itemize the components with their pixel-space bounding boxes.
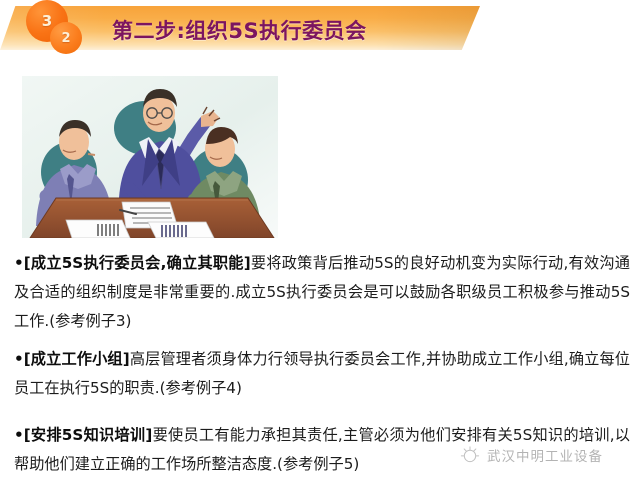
paragraph-3-lead: [安排5S知识培训] — [24, 426, 153, 444]
paragraph-1: •[成立5S执行委员会,确立其职能]要将政策背后推动5S的良好动机变为实际行动,… — [14, 249, 630, 336]
paragraph-3: •[安排5S知识培训]要使员工有能力承担其责任,主管必须为他们安排有关5S知识的… — [14, 421, 630, 479]
step-badge-3-label: 3 — [42, 12, 52, 30]
meeting-illustration-graphic — [22, 76, 278, 238]
slide-page: 第二步:组织5S执行委员会 3 2 — [0, 0, 640, 480]
step-badge-2: 2 — [50, 22, 82, 54]
bullet-icon-2: • — [14, 350, 24, 368]
bullet-icon-1: • — [14, 254, 24, 272]
page-title: 第二步:组织5S执行委员会 — [112, 15, 367, 45]
paragraph-2: •[成立工作小组]高层管理者须身体力行领导执行委员会工作,并协助成立工作小组,确… — [14, 345, 630, 403]
paragraph-1-lead: [成立5S执行委员会,确立其职能] — [24, 254, 251, 272]
step-badge-2-label: 2 — [61, 31, 70, 46]
paragraph-2-lead: [成立工作小组] — [24, 350, 130, 368]
meeting-illustration — [22, 76, 278, 238]
bullet-icon-3: • — [14, 426, 24, 444]
